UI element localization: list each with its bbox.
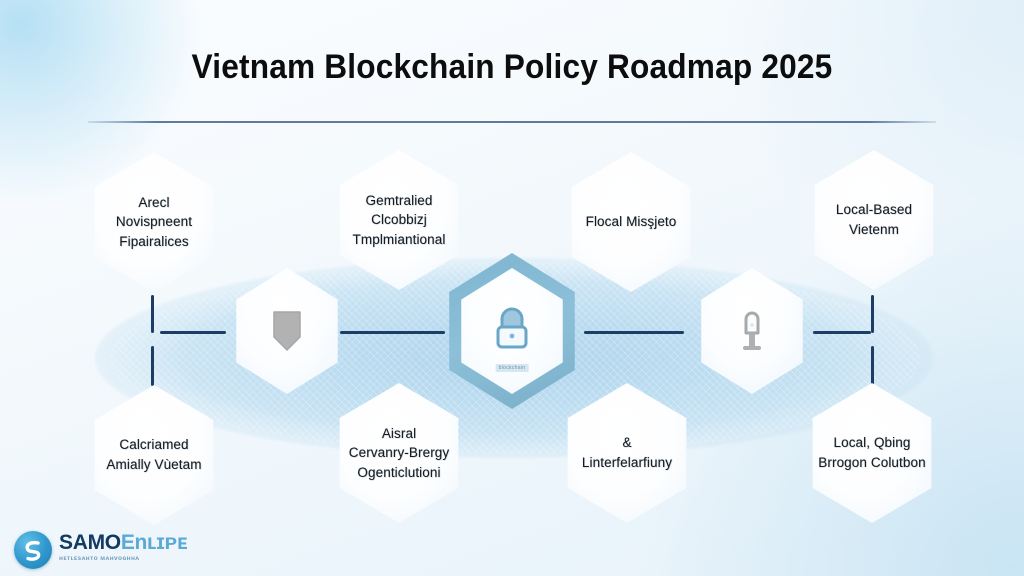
logo-name-secondary: Enʟɪᴘᴇ [121,531,187,554]
node-mid-center-caption: blockchain [496,364,529,372]
connector-left-vertical-lower [151,346,154,386]
node-top-4[interactable]: Local-Based Vietenm [805,150,943,290]
node-top-4-label: Local-Based Vietenm [830,200,918,239]
node-bottom-2-label: Aisral Cervanry-Brergy Ogenticlutioni [343,424,456,483]
node-bottom-3-label: & Linterfelarfiuny [576,433,678,472]
node-top-1-label: Arecl Novispneent Fipairalices [110,193,198,252]
node-bottom-3-line-1: & [582,433,672,453]
shield-icon [270,309,304,353]
node-top-2-line-3: Tmplmiantional [353,230,446,250]
node-top-1-line-3: Fipairalices [116,232,192,252]
node-bottom-4-label: Local, Qbing Brrogon Colutbon [812,433,931,472]
node-top-1-line-1: Arecl [116,193,192,213]
connector-right-horizontal [813,331,871,334]
logo-name-primary: SAMO [59,531,121,554]
node-top-2-label: Gemtralied Clcobbizj Tmplmiantional [347,191,452,250]
node-top-3-line-1: Flocal Misşjeto [586,212,677,232]
lamp-icon [736,307,768,355]
node-bottom-1-label: Calcriamed Amially Vùetam [100,435,207,474]
swirl-icon [23,540,43,562]
node-top-3-label: Flocal Misşjeto [580,212,683,232]
logo-tagline: ʜᴇᴛʟᴇsᴀʜᴛᴏ ᴍᴀʜᴠᴏɢʜʜᴀ [59,555,187,562]
connector-right-vertical [871,295,874,333]
node-bottom-1-line-2: Amially Vùetam [106,455,201,475]
node-bottom-4-line-1: Local, Qbing [818,433,925,453]
logo-wordmark: SAMOEnʟɪᴘᴇ [59,532,187,553]
connector-mid-left-horizontal [340,331,445,334]
connector-left-horizontal [160,331,226,334]
node-top-4-line-2: Vietenm [836,220,912,240]
logo-mark-icon [14,531,52,569]
node-bottom-4-line-2: Brrogon Colutbon [818,453,925,473]
node-top-4-line-1: Local-Based [836,200,912,220]
node-bottom-3-line-2: Linterfelarfiuny [582,453,672,473]
node-bottom-2-line-1: Aisral [349,424,450,444]
node-top-1-line-2: Novispneent [116,212,192,232]
poster-canvas: Vietnam Blockchain Policy Roadmap 2025 A… [0,0,1024,576]
node-top-2-line-1: Gemtralied [353,191,446,211]
node-top-1[interactable]: Arecl Novispneent Fipairalices [85,152,223,292]
logo-text: SAMOEnʟɪᴘᴇ ʜᴇᴛʟᴇsᴀʜᴛᴏ ᴍᴀʜᴠᴏɢʜʜᴀ [59,532,187,562]
title-divider [88,121,936,123]
node-top-2-line-2: Clcobbizj [353,210,446,230]
node-bottom-2-line-2: Cervanry-Brergy [349,443,450,463]
connector-right-vertical-lower [871,346,874,386]
node-bottom-2-line-3: Ogenticlutioni [349,463,450,483]
page-title: Vietnam Blockchain Policy Roadmap 2025 [36,48,988,87]
lock-icon [490,305,534,357]
node-bottom-1-line-1: Calcriamed [106,435,201,455]
brand-logo[interactable]: SAMOEnʟɪᴘᴇ ʜᴇᴛʟᴇsᴀʜᴛᴏ ᴍᴀʜᴠᴏɢʜʜᴀ [14,528,244,572]
connector-mid-right-horizontal [584,331,684,334]
